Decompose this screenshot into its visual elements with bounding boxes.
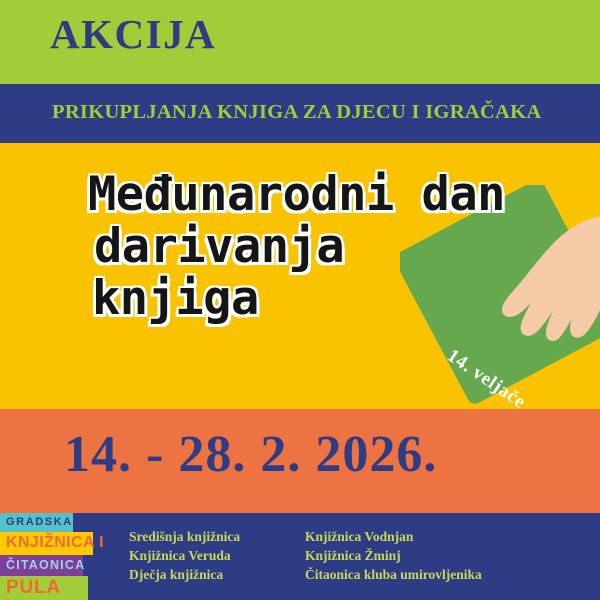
logo-line-pula: PULA — [0, 576, 88, 600]
main-title-line-2: darivanja — [94, 224, 558, 270]
logo-line-knjiznica: KNJIŽNICA I — [0, 532, 93, 555]
list-item: Knjižnica Veruda — [129, 546, 240, 565]
main-title: Međunarodni dan darivanja knjiga — [88, 172, 558, 322]
main-title-line-1: Međunarodni dan — [88, 172, 558, 218]
logo-line-citaonica: ČITAONICA — [0, 555, 83, 576]
poster-subtitle: PRIKUPLJANJA KNJIGA ZA DJECU I IGRAČAKA — [52, 101, 542, 124]
library-logo[interactable]: GRADSKA KNJIŽNICA I ČITAONICA PULA — [0, 513, 100, 600]
logo-line-gradska: GRADSKA — [0, 513, 73, 532]
list-item: Knjižnica Vodnjan — [305, 527, 482, 546]
poster-canvas: AKCIJA PRIKUPLJANJA KNJIGA ZA DJECU I IG… — [0, 0, 600, 600]
branch-list-right: Knjižnica Vodnjan Knjižnica Žminj Čitaon… — [305, 527, 482, 584]
branch-list-left: Središnja knjižnica Knjižnica Veruda Dje… — [129, 527, 240, 584]
list-item: Dječja knjižnica — [129, 565, 240, 584]
list-item: Središnja knjižnica — [129, 527, 240, 546]
main-title-line-3: knjiga — [92, 276, 558, 322]
date-range: 14. - 28. 2. 2026. — [64, 425, 437, 484]
page-title: AKCIJA — [50, 14, 216, 55]
list-item: Čitaonica kluba umirovljenika — [305, 565, 482, 584]
list-item: Knjižnica Žminj — [305, 546, 482, 565]
